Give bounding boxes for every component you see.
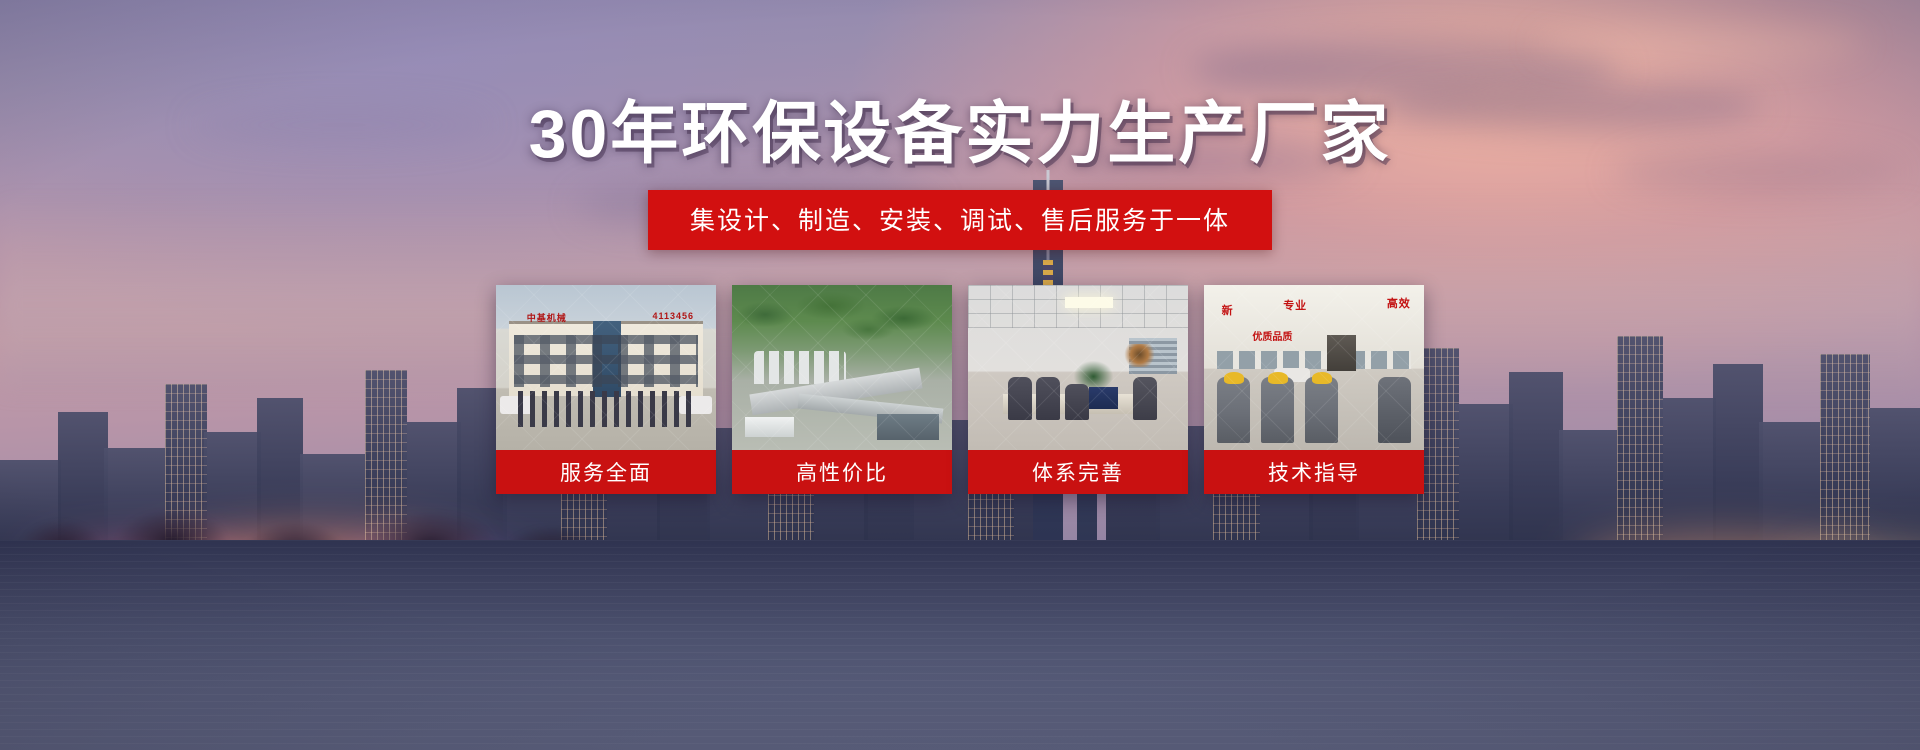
river-water <box>0 540 1920 750</box>
card-image-office-building: 中基机械 4113456 <box>496 285 716 450</box>
card-caption: 服务全面 <box>496 450 716 494</box>
feature-card[interactable]: 高性价比 <box>732 285 952 494</box>
card-caption: 高性价比 <box>732 450 952 494</box>
card-caption: 体系完善 <box>968 450 1188 494</box>
feature-card-list: 中基机械 4113456 服务全面 高性价比 体系完善 <box>496 285 1424 494</box>
wall-slogan-text: 高效 <box>1387 295 1411 311</box>
hero-banner: 30年环保设备实力生产厂家 集设计、制造、安装、调试、售后服务于一体 中基机械 … <box>0 0 1920 750</box>
card-image-industrial-plant <box>732 285 952 450</box>
feature-card[interactable]: 中基机械 4113456 服务全面 <box>496 285 716 494</box>
cloud-icon <box>1190 38 1620 100</box>
hardhat-icon <box>1224 372 1244 384</box>
page-title: 30年环保设备实力生产厂家 <box>0 100 1920 168</box>
wall-slogan-text: 优质品质 <box>1252 328 1292 343</box>
wall-slogan-text: 专业 <box>1283 297 1307 313</box>
hardhat-icon <box>1312 372 1332 384</box>
card-image-office-meeting <box>968 285 1188 450</box>
card-caption: 技术指导 <box>1204 450 1424 494</box>
feature-card[interactable]: 体系完善 <box>968 285 1188 494</box>
building-sign-text: 中基机械 <box>527 311 567 324</box>
feature-card[interactable]: 新 专业 高效 优质品质 技术指导 <box>1204 285 1424 494</box>
building-phone-text: 4113456 <box>652 311 694 321</box>
wall-slogan-text: 新 <box>1222 302 1234 318</box>
card-image-factory-workers: 新 专业 高效 优质品质 <box>1204 285 1424 450</box>
subtitle-banner: 集设计、制造、安装、调试、售后服务于一体 <box>648 190 1272 250</box>
hardhat-icon <box>1268 372 1288 384</box>
cloud-icon <box>1536 23 1866 63</box>
